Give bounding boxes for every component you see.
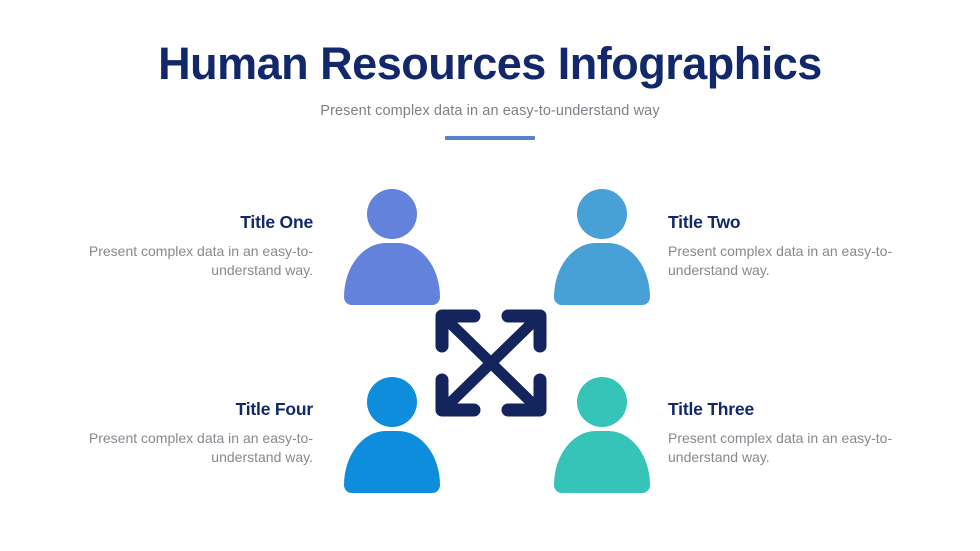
quadrant-title-two: Title Two — [668, 212, 923, 233]
person-icon-three — [554, 377, 650, 493]
quadrant-text-four: Title Four Present complex data in an ea… — [58, 399, 313, 468]
page-title: Human Resources Infographics — [0, 40, 980, 89]
quadrant-description-two: Present complex data in an easy-to-under… — [668, 242, 923, 281]
slide-header: Human Resources Infographics Present com… — [0, 40, 980, 140]
quadrant-description-three: Present complex data in an easy-to-under… — [668, 429, 923, 468]
person-icon-four — [344, 377, 440, 493]
title-divider — [445, 136, 535, 140]
quadrant-text-two: Title Two Present complex data in an eas… — [668, 212, 923, 281]
page-subtitle: Present complex data in an easy-to-under… — [0, 103, 980, 119]
person-head-icon — [367, 189, 417, 239]
four-way-expand-arrows-icon — [432, 306, 550, 420]
person-body-icon — [344, 431, 440, 493]
person-head-icon — [577, 377, 627, 427]
person-icon-two — [554, 189, 650, 305]
person-body-icon — [344, 243, 440, 305]
person-body-icon — [554, 431, 650, 493]
person-body-icon — [554, 243, 650, 305]
quadrant-title-four: Title Four — [58, 399, 313, 420]
person-head-icon — [577, 189, 627, 239]
quadrant-description-four: Present complex data in an easy-to-under… — [58, 429, 313, 468]
infographic-slide: Human Resources Infographics Present com… — [0, 0, 980, 551]
quadrant-title-three: Title Three — [668, 399, 923, 420]
quadrant-description-one: Present complex data in an easy-to-under… — [58, 242, 313, 281]
quadrant-text-three: Title Three Present complex data in an e… — [668, 399, 923, 468]
person-head-icon — [367, 377, 417, 427]
person-icon-one — [344, 189, 440, 305]
quadrant-text-one: Title One Present complex data in an eas… — [58, 212, 313, 281]
quadrant-title-one: Title One — [58, 212, 313, 233]
